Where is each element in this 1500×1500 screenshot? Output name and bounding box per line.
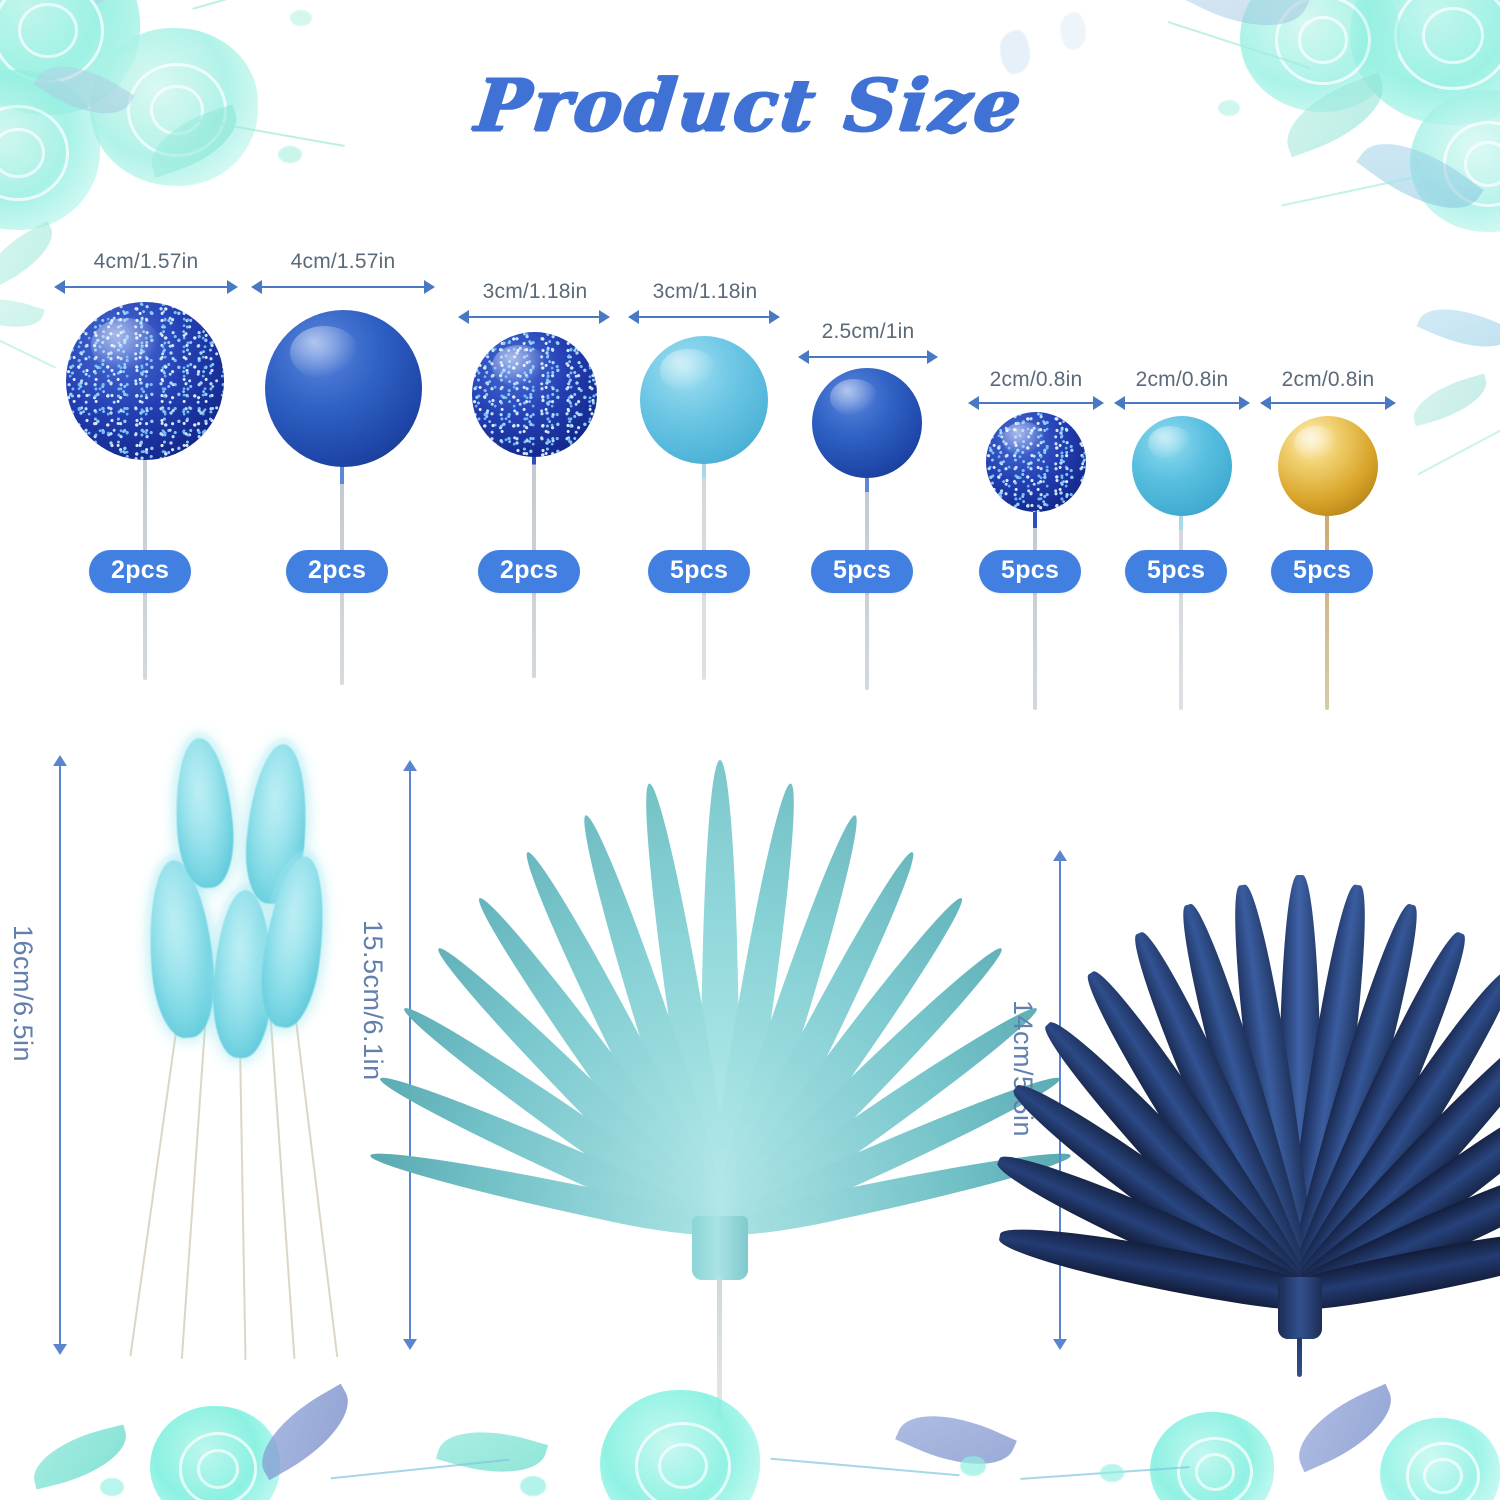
ball-topper-sphere <box>1132 416 1232 516</box>
page-title: Product Size <box>0 62 1500 147</box>
watercolor-leaf <box>436 1417 548 1488</box>
ball-topper-sphere <box>472 332 597 457</box>
specular-highlight <box>1148 426 1192 460</box>
dimension-arrow-horizontal <box>798 350 938 364</box>
dimension-label: 2.5cm/1in <box>790 320 946 344</box>
watercolor-rose <box>1380 1418 1500 1500</box>
watercolor-leaf <box>151 0 281 8</box>
watercolor-accent <box>290 10 312 26</box>
watercolor-accent <box>1060 12 1086 50</box>
watercolor-leaf <box>1180 0 1311 49</box>
ball-stick <box>1033 488 1037 710</box>
specular-highlight <box>660 349 716 393</box>
dimension-label: 3cm/1.18in <box>452 280 618 304</box>
dimension-arrow-horizontal <box>251 280 435 294</box>
fan-stick <box>1297 1337 1302 1377</box>
dimension-arrow-horizontal <box>458 310 610 324</box>
ball-topper-sphere <box>986 412 1086 512</box>
dimension-arrow-horizontal <box>54 280 238 294</box>
grass-puff <box>171 736 237 890</box>
dimension-arrow-vertical <box>53 755 67 1355</box>
fan-stick <box>717 1278 722 1418</box>
specular-highlight <box>830 379 878 416</box>
ball-topper-sphere <box>812 368 922 478</box>
palm-fan-leaf-light <box>460 730 980 1290</box>
watercolor-accent <box>960 1456 986 1476</box>
ball-topper-sphere <box>66 302 224 460</box>
ball-toppers-row: 4cm/1.57in 2pcs 4cm/1.57in 2pcs <box>0 250 1500 710</box>
dimension-arrow-horizontal <box>1260 396 1396 410</box>
watercolor-sprig <box>330 1459 509 1480</box>
dimension-arrow-horizontal <box>1114 396 1250 410</box>
dimension-arrow-horizontal <box>628 310 780 324</box>
bunny-tail-grass <box>120 720 380 1360</box>
dimension-arrow-horizontal <box>968 396 1104 410</box>
palm-fan-leaf-navy <box>1090 825 1500 1365</box>
lower-items-row: 16cm/6.5in 15.5cm/6.1in <box>0 710 1500 1410</box>
dimension-label-vertical: 16cm/6.5in <box>7 925 38 1062</box>
quantity-badge: 2pcs <box>89 550 191 593</box>
specular-highlight <box>492 345 547 388</box>
dimension-label: 4cm/1.57in <box>243 250 443 274</box>
specular-highlight <box>290 326 359 379</box>
watercolor-rose <box>150 1406 280 1500</box>
specular-highlight <box>1294 426 1338 460</box>
fan-collar <box>1278 1277 1322 1339</box>
watercolor-accent <box>1100 1464 1124 1482</box>
quantity-badge: 2pcs <box>478 550 580 593</box>
dimension-label: 2cm/0.8in <box>1108 368 1256 392</box>
watercolor-accent <box>278 146 302 163</box>
watercolor-sprig <box>770 1458 959 1477</box>
watercolor-accent <box>100 1478 124 1496</box>
dimension-label: 2cm/0.8in <box>962 368 1110 392</box>
dimension-arrow-vertical <box>403 760 417 1350</box>
specular-highlight <box>91 318 161 372</box>
dimension-label: 4cm/1.57in <box>46 250 246 274</box>
watercolor-sprig <box>1020 1466 1190 1480</box>
dimension-label: 2cm/0.8in <box>1254 368 1402 392</box>
watercolor-sprig <box>1281 175 1418 206</box>
dimension-label: 3cm/1.18in <box>622 280 788 304</box>
quantity-badge: 2pcs <box>286 550 388 593</box>
product-size-infographic: Product Size 4cm/1.57in 2pcs 4cm/1.57in <box>0 0 1500 1500</box>
dimension-label-vertical: 15.5cm/6.1in <box>357 920 388 1081</box>
ball-stick <box>1325 496 1329 710</box>
grass-stem <box>290 980 338 1357</box>
ball-topper-sphere <box>1278 416 1378 516</box>
specular-highlight <box>1002 422 1046 456</box>
watercolor-accent <box>520 1476 546 1496</box>
quantity-badge: 5pcs <box>811 550 913 593</box>
ball-topper-sphere <box>265 310 422 467</box>
quantity-badge: 5pcs <box>979 550 1081 593</box>
quantity-badge: 5pcs <box>1271 550 1373 593</box>
fan-collar <box>692 1216 748 1280</box>
ball-stick <box>1179 496 1183 710</box>
ball-topper-sphere <box>640 336 768 464</box>
watercolor-rose <box>1150 1412 1274 1500</box>
quantity-badge: 5pcs <box>648 550 750 593</box>
quantity-badge: 5pcs <box>1125 550 1227 593</box>
watercolor-leaf <box>26 1425 133 1490</box>
watercolor-leaf <box>73 0 207 4</box>
watercolor-sprig <box>192 0 318 10</box>
